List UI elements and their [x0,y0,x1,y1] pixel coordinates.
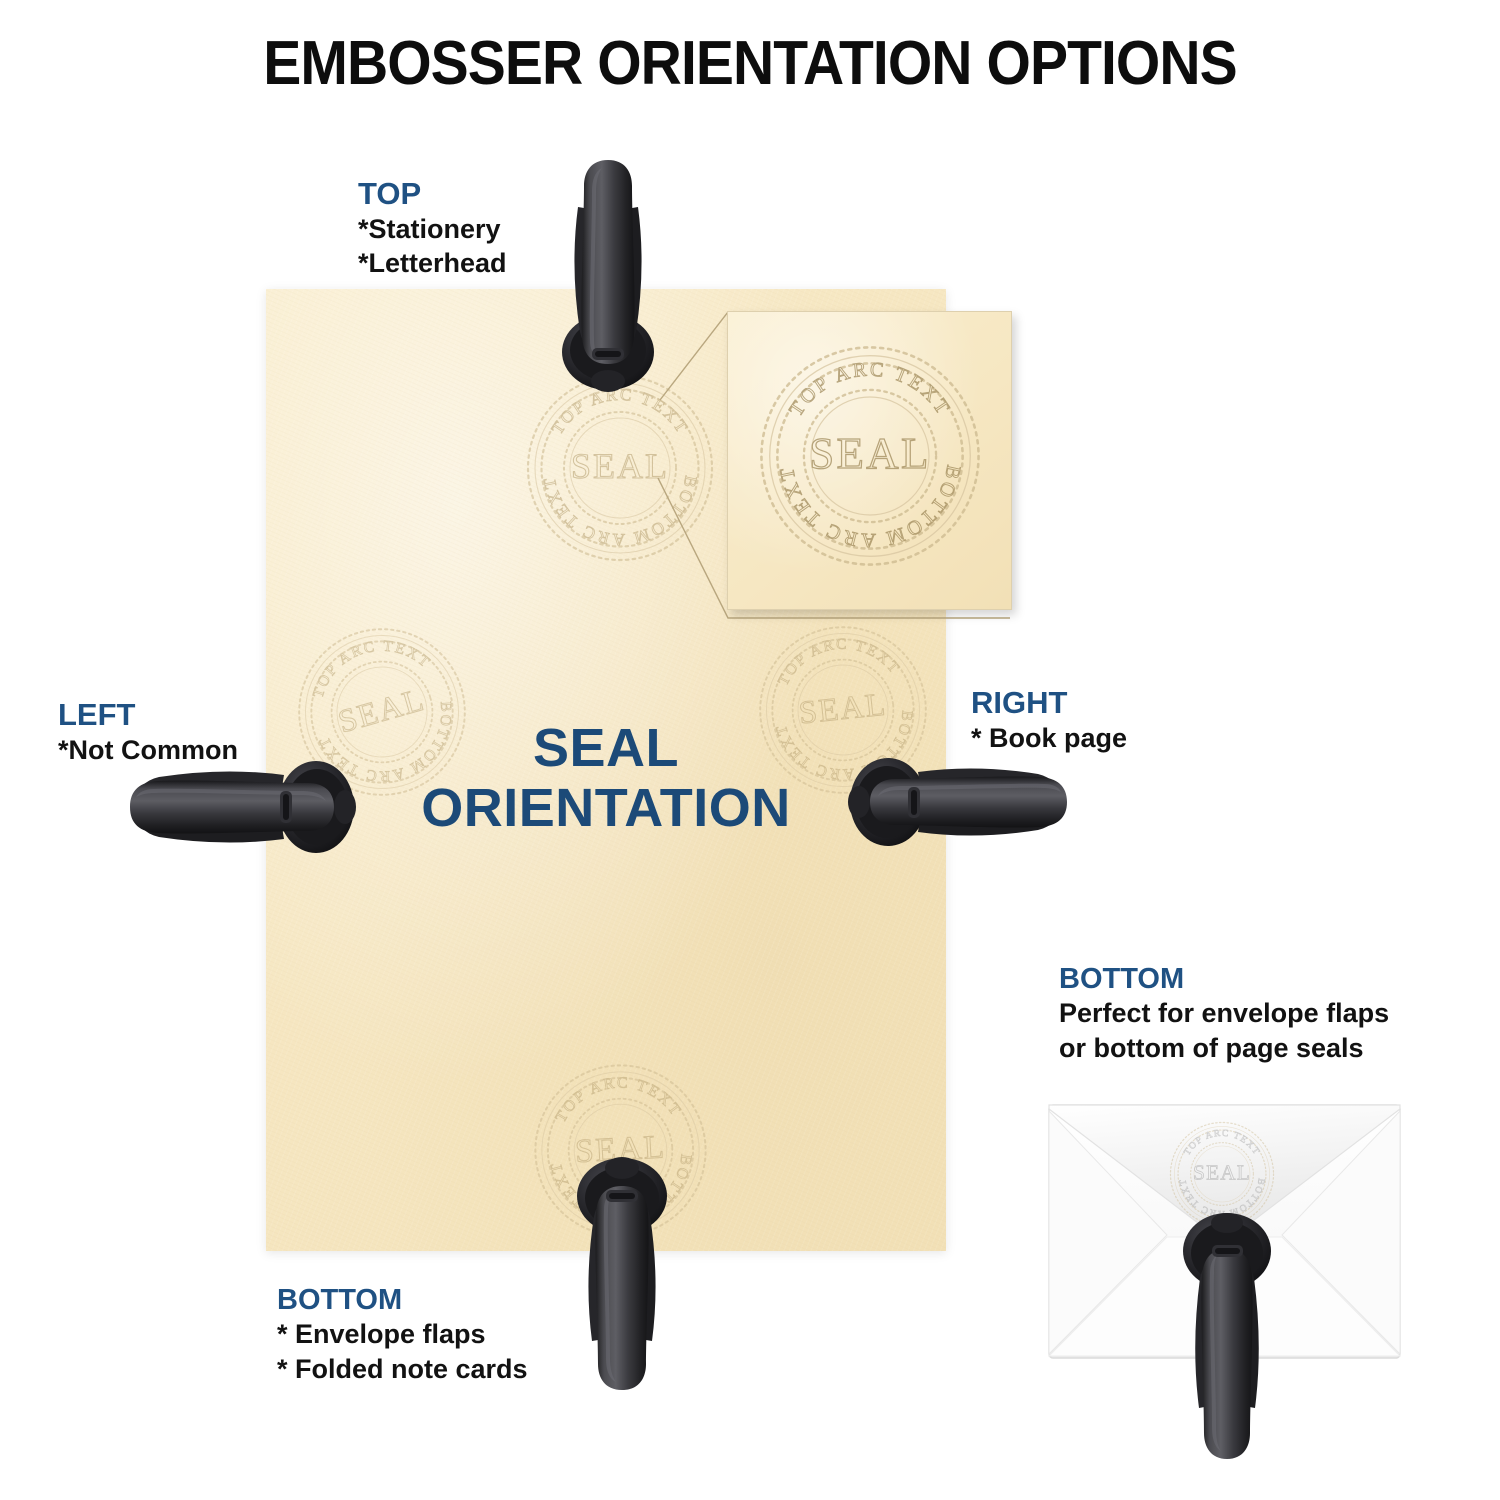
embosser-tool-envelope[interactable] [1172,1203,1282,1465]
poster-canvas: EMBOSSER ORIENTATION OPTIONS TOP ARC TEX… [0,0,1500,1500]
magnified-seal-impression: TOP ARC TEXT BOTTOM ARC TEXT SEAL [752,338,988,574]
magnified-seal-callout: TOP ARC TEXT BOTTOM ARC TEXT SEAL [727,311,1012,610]
callout-bottom-right-line-0: Perfect for envelope flaps [1059,996,1389,1031]
callout-top-heading: TOP [358,176,507,212]
callout-left: LEFT *Not Common [58,697,238,767]
callout-bottom-left: BOTTOM * Envelope flaps * Folded note ca… [277,1283,528,1387]
callout-bottom-right-heading: BOTTOM [1059,962,1389,996]
embosser-tool-left[interactable] [86,755,361,860]
callout-bottom-right-line-1: or bottom of page seals [1059,1031,1389,1066]
callout-bottom-right: BOTTOM Perfect for envelope flaps or bot… [1059,962,1389,1066]
callout-left-line-0: *Not Common [58,733,238,767]
center-label-line2: ORIENTATION [266,778,946,838]
callout-left-heading: LEFT [58,697,238,733]
callout-bottom-left-line-1: * Folded note cards [277,1352,528,1387]
callout-bottom-left-heading: BOTTOM [277,1283,528,1317]
callout-right-line-0: * Book page [971,721,1127,755]
callout-right: RIGHT * Book page [971,685,1127,755]
embosser-tool-bottom[interactable] [562,1148,682,1398]
callout-top-line-0: *Stationery [358,212,507,246]
callout-right-heading: RIGHT [971,685,1127,721]
embosser-tool-right[interactable] [846,752,1086,852]
embosser-tool-top[interactable] [548,152,668,397]
callout-bottom-left-line-0: * Envelope flaps [277,1317,528,1352]
callout-top-line-1: *Letterhead [358,246,507,280]
seal-orientation-label: SEAL ORIENTATION [266,718,946,839]
seal-center-text: SEAL [809,428,931,478]
center-label-line1: SEAL [266,718,946,778]
callout-top: TOP *Stationery *Letterhead [358,176,507,280]
page-title: EMBOSSER ORIENTATION OPTIONS [60,28,1440,99]
